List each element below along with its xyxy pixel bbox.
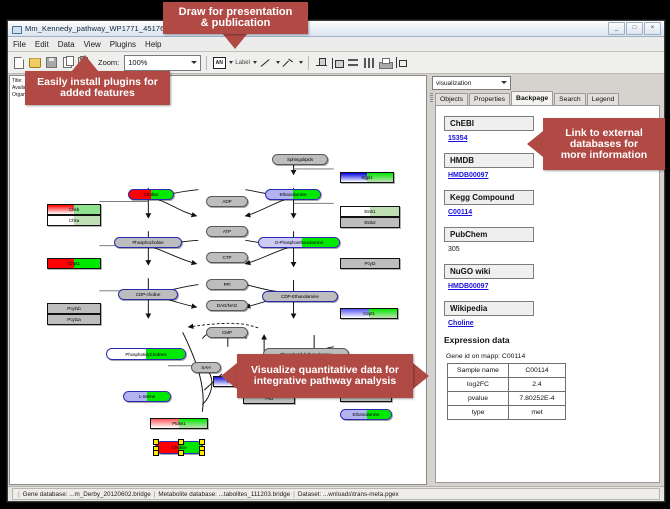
gene-pcyt2[interactable]: Pcyt2 — [340, 258, 400, 269]
gene-label: Chka — [69, 218, 79, 223]
db-link-wikipedia[interactable]: Choline — [448, 320, 651, 327]
line-icon — [260, 58, 271, 68]
menu-plugins[interactable]: Plugins — [110, 40, 136, 49]
label-tool-label: Label — [235, 60, 250, 66]
node-ethanolamine-top[interactable]: Ethanolamine — [265, 189, 321, 200]
resize-handle-s[interactable] — [178, 450, 184, 456]
gene-id-on-mapp: Gene id on mapp: C00114 — [446, 353, 651, 360]
callout-plugins: Easily install plugins for added feature… — [25, 71, 170, 105]
tab-objects[interactable]: Objects — [435, 93, 468, 105]
resize-handle-se[interactable] — [199, 450, 205, 456]
db-header-wikipedia: Wikipedia — [444, 301, 534, 316]
expr-value: 2.4 — [509, 378, 566, 392]
callout-draw-line2: & publication — [201, 18, 271, 29]
db-header-pubchem: PubChem — [444, 227, 534, 242]
node-adp[interactable]: ADP — [206, 196, 248, 207]
gene-pcyt1a[interactable]: Pcyt1a — [47, 314, 101, 325]
callout-draw-arrow — [222, 33, 248, 49]
common-height-icon — [395, 57, 407, 68]
node-phosphocholine[interactable]: Phosphocholine — [114, 237, 182, 248]
node-label: Ethanolamine — [353, 412, 380, 417]
datanode-icon: AN — [213, 57, 226, 69]
expr-key: log2FC — [448, 378, 509, 392]
callout-links: Link to external databases for more info… — [543, 118, 665, 170]
status-separator: | — [293, 491, 295, 498]
resize-handle-ne[interactable] — [199, 439, 205, 445]
floppy-save-icon — [46, 57, 57, 68]
tab-backpage[interactable]: Backpage — [511, 91, 553, 105]
open-button[interactable] — [28, 55, 42, 70]
callout-visualize: Visualize quantitative data for integrat… — [237, 354, 413, 398]
gene-sgpl1[interactable]: Sgpl1 — [340, 172, 394, 183]
align-left-icon — [331, 57, 343, 69]
node-cmp[interactable]: CMP — [206, 327, 248, 338]
node-ethanolamine-right[interactable]: Ethanolamine — [340, 409, 392, 420]
side-tabs: Objects Properties Backpage Search Legen… — [428, 91, 664, 105]
gene-chkb[interactable]: Chkb — [47, 204, 101, 215]
menu-view[interactable]: View — [84, 40, 101, 49]
tab-properties[interactable]: Properties — [469, 93, 510, 105]
db-link-hmdb[interactable]: HMDB00097 — [448, 172, 651, 179]
expr-key: pvalue — [448, 392, 509, 406]
db-header-hmdb: HMDB — [444, 153, 534, 168]
chevron-down-icon — [501, 81, 507, 84]
pathway-canvas[interactable]: Title: Availa Organi — [9, 75, 427, 485]
minimize-button[interactable]: _ — [608, 22, 625, 35]
status-text: | Gene database: ...m_Derby_20120602.bri… — [12, 488, 660, 500]
resize-handle-n[interactable] — [178, 439, 184, 445]
folder-open-icon — [29, 58, 41, 68]
status-separator: | — [154, 491, 156, 498]
close-button[interactable]: × — [644, 22, 661, 35]
node-label: Ethanolamine — [280, 192, 307, 197]
db-header-nugo-wiki: NuGO wiki — [444, 264, 534, 279]
node-sphingolipids[interactable]: Sphingolipids — [272, 154, 328, 165]
line-tool-button[interactable] — [259, 55, 273, 70]
node-ppi[interactable]: PPi — [206, 279, 248, 290]
gene-label: Chpt1 — [68, 261, 80, 266]
db-header-chebi: ChEBI — [444, 116, 534, 131]
common-width-icon — [379, 58, 391, 68]
node-label: SAH — [201, 365, 210, 370]
node-label: CDP-choline — [136, 292, 161, 297]
node-ctp[interactable]: CTP — [206, 252, 248, 263]
menu-edit[interactable]: Edit — [35, 40, 49, 49]
callout-links-line2: databases for — [570, 139, 638, 150]
gene-label: Ptdss1 — [172, 421, 185, 426]
db-header-kegg-compound: Kegg Compound — [444, 190, 534, 205]
node-label: Phosphatidylcholines — [125, 352, 166, 357]
status-gene-database: Gene database: ...m_Derby_20120602.bridg… — [23, 491, 151, 498]
node-label: Phosphocholine — [132, 240, 163, 245]
gene-cept1[interactable]: Cept1 — [340, 308, 398, 319]
expr-value: C00114 — [509, 364, 566, 378]
expr-key: Sample name — [448, 364, 509, 378]
title-bar: Mm_Kennedy_pathway_WP1771_45176.gpml _ □… — [8, 21, 664, 37]
db-value-pubchem: 305 — [448, 246, 651, 253]
callout-plugins-line2: added features — [60, 88, 135, 99]
callout-visualize-arrow-left — [221, 363, 237, 389]
node-label: L-Serine — [139, 394, 156, 399]
zoom-label: Zoom: — [98, 58, 119, 67]
gene-label: Pcyt1a — [67, 317, 80, 322]
menu-data[interactable]: Data — [58, 40, 75, 49]
node-label: O-Phosphoethanolamine — [275, 240, 324, 245]
chevron-down-icon — [191, 61, 197, 64]
gene-label: Pcyt1b — [67, 306, 80, 311]
toolbar-separator-1 — [206, 56, 207, 70]
node-label: ADP — [222, 199, 231, 204]
menu-file[interactable]: File — [13, 40, 26, 49]
node-label: CDP-Ethanolamine — [281, 294, 319, 299]
gene-label: Pcyt2 — [365, 261, 376, 266]
common-width-button[interactable] — [378, 55, 392, 70]
expression-table: Sample name C00114 log2FC 2.4 pvalue 7.8… — [447, 363, 566, 420]
visualization-value: visualization — [436, 80, 471, 87]
app-icon — [11, 24, 21, 34]
expression-data-heading: Expression data — [444, 335, 651, 345]
table-row: type met — [448, 406, 566, 420]
new-document-icon — [14, 57, 24, 69]
zoom-value: 100% — [128, 58, 147, 67]
tab-search[interactable]: Search — [554, 93, 586, 105]
node-choline[interactable]: Choline — [128, 189, 174, 200]
node-label: Sphingolipids — [287, 157, 313, 162]
node-phosphatidylcholines[interactable]: Phosphatidylcholines — [106, 348, 186, 360]
gene-label: Cept1 — [363, 311, 375, 316]
node-label: Choline — [144, 192, 159, 197]
node-label: CTP — [223, 255, 232, 260]
node-o-phosphoethanolamine[interactable]: O-Phosphoethanolamine — [258, 237, 340, 248]
menu-help[interactable]: Help — [145, 40, 161, 49]
datanode-button[interactable]: AN — [212, 55, 226, 70]
gene-pcyt1b[interactable]: Pcyt1b — [47, 303, 101, 314]
table-row: Sample name C00114 — [448, 364, 566, 378]
status-metabolite-database: Metabolite database: ...tabolites_111203… — [158, 491, 290, 498]
callout-visualize-arrow-right — [413, 363, 429, 389]
gene-label: Sgpl1 — [361, 175, 372, 180]
expr-value: 7.80252E-4 — [509, 392, 566, 406]
db-link-kegg-compound[interactable]: C00114 — [448, 209, 651, 216]
status-separator: | — [18, 491, 20, 498]
visualization-row: visualization — [428, 74, 664, 91]
node-cdp-ethanolamine[interactable]: CDP-Ethanolamine — [262, 291, 338, 302]
table-row: pvalue 7.80252E-4 — [448, 392, 566, 406]
align-top-icon — [315, 57, 327, 69]
gene-chpt1[interactable]: Chpt1 — [47, 258, 101, 269]
maximize-button[interactable]: □ — [626, 22, 643, 35]
node-label: ATP — [223, 229, 231, 234]
gene-chka[interactable]: Chka — [47, 215, 101, 226]
toolbar-separator-2 — [308, 56, 309, 70]
align-top-button[interactable] — [314, 55, 328, 70]
window-buttons: _ □ × — [608, 22, 661, 35]
new-button[interactable] — [12, 55, 26, 70]
node-sah[interactable]: SAH — [191, 362, 221, 373]
resize-handle-nw[interactable] — [153, 439, 159, 445]
node-label: PPi — [224, 282, 231, 287]
expr-key: type — [448, 406, 509, 420]
gene-label: Etnk1 — [364, 209, 375, 214]
datanode-dropdown-icon[interactable] — [229, 61, 233, 64]
gene-ptdss1[interactable]: Ptdss1 — [150, 418, 208, 429]
distribute-vertical-button[interactable] — [346, 55, 360, 70]
visualization-combobox[interactable]: visualization — [432, 76, 511, 90]
callout-links-line1: Link to external — [565, 128, 643, 139]
distribute-vertical-icon — [347, 57, 359, 69]
copy-icon — [63, 57, 72, 68]
branch-dropdown-icon[interactable] — [299, 61, 303, 64]
node-label: CMP — [222, 330, 232, 335]
line-dropdown-icon[interactable] — [276, 61, 280, 64]
callout-links-arrow — [527, 131, 543, 157]
gene-etnk2[interactable]: Etnk2 — [340, 217, 400, 228]
common-height-button[interactable] — [394, 55, 408, 70]
align-left-button[interactable] — [330, 55, 344, 70]
menu-bar: File Edit Data View Plugins Help — [8, 37, 664, 52]
gene-label: Chkb — [69, 207, 79, 212]
resize-handle-sw[interactable] — [153, 450, 159, 456]
node-label: DAG/NAG — [217, 303, 238, 308]
zoom-combobox[interactable]: 100% — [124, 55, 201, 71]
db-link-nugo-wiki[interactable]: HMDB00097 — [448, 283, 651, 290]
gene-label: Etnk2 — [364, 220, 375, 225]
node-choline-selected[interactable]: Choline — [155, 441, 203, 454]
status-dataset: Dataset: ...wnloads\trans-meta.pgex — [298, 491, 399, 498]
table-row: log2FC 2.4 — [448, 378, 566, 392]
node-cdp-choline[interactable]: CDP-choline — [118, 289, 178, 300]
callout-links-line3: more information — [561, 150, 647, 161]
save-button[interactable] — [44, 55, 58, 70]
window-title: Mm_Kennedy_pathway_WP1771_45176.gpml — [25, 24, 183, 33]
tab-legend[interactable]: Legend — [587, 93, 620, 105]
expr-value: met — [509, 406, 566, 420]
callout-visualize-line2: integrative pathway analysis — [254, 376, 396, 387]
label-dropdown-icon[interactable] — [253, 61, 257, 64]
callout-draw: Draw for presentation & publication — [163, 2, 308, 34]
gene-etnk1[interactable]: Etnk1 — [340, 206, 400, 217]
callout-plugins-arrow — [72, 55, 98, 71]
branch-tool-button[interactable] — [282, 55, 296, 70]
status-bar: | Gene database: ...m_Derby_20120602.bri… — [8, 486, 664, 501]
distribute-horizontal-button[interactable] — [362, 55, 376, 70]
node-atp[interactable]: ATP — [206, 226, 248, 237]
node-l-serine-left[interactable]: L-Serine — [123, 391, 171, 402]
node-dag-nag[interactable]: DAG/NAG — [206, 300, 248, 311]
distribute-horizontal-icon — [363, 57, 375, 69]
branch-line-icon — [283, 57, 294, 68]
